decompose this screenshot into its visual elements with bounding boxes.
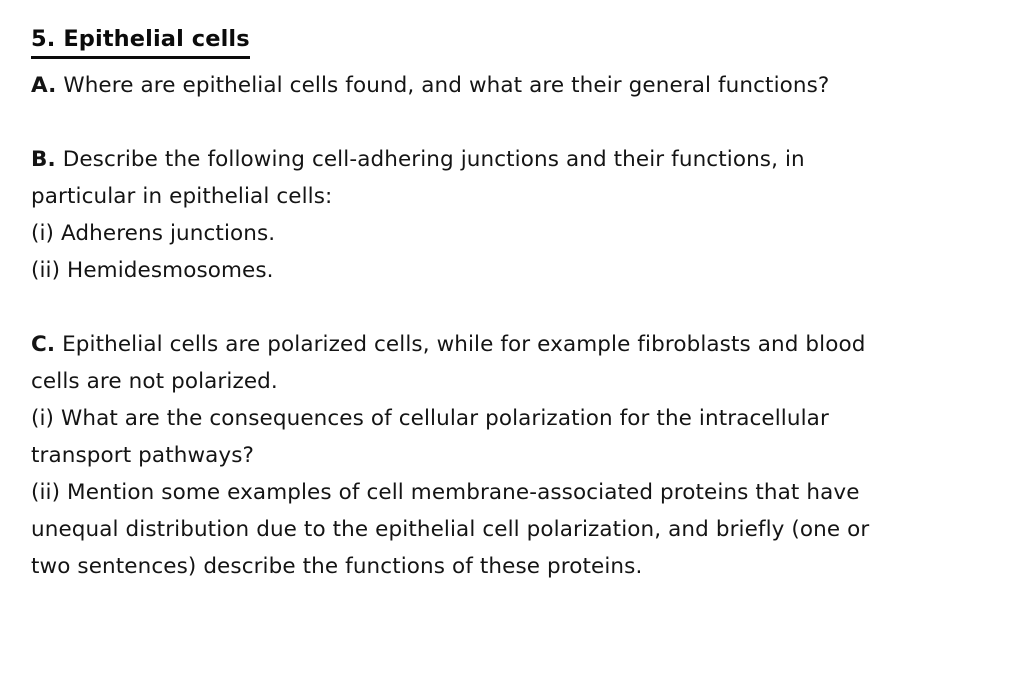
document-body: A. Where are epithelial cells found, and… — [31, 67, 984, 585]
question-c-subitem-ii-line-2: unequal distribution due to the epitheli… — [31, 511, 984, 548]
heading-row: 5. Epithelial cells — [31, 22, 984, 61]
paragraph-spacer-1 — [31, 104, 984, 141]
question-a-label: A. — [31, 73, 56, 98]
question-a-text-1: Where are epithelial cells found, and wh… — [63, 73, 829, 98]
question-c-subitem-i-line-1: (i) What are the consequences of cellula… — [31, 400, 984, 437]
document-page: 5. Epithelial cells A. Where are epithel… — [0, 0, 1024, 685]
question-c-label: C. — [31, 332, 55, 357]
question-c-subitem-ii-line-3: two sentences) describe the functions of… — [31, 548, 984, 585]
question-b-line-2: particular in epithelial cells: — [31, 178, 984, 215]
question-c-line-1: C. Epithelial cells are polarized cells,… — [31, 326, 984, 363]
question-a-line-1: A. Where are epithelial cells found, and… — [31, 67, 984, 104]
question-c-subitem-ii-line-1: (ii) Mention some examples of cell membr… — [31, 474, 984, 511]
page-title: 5. Epithelial cells — [31, 22, 250, 59]
question-block-b: B. Describe the following cell-adhering … — [31, 141, 984, 289]
question-block-c: C. Epithelial cells are polarized cells,… — [31, 326, 984, 585]
question-c-subitem-i-line-2: transport pathways? — [31, 437, 984, 474]
paragraph-spacer-2 — [31, 289, 984, 326]
question-c-line-2: cells are not polarized. — [31, 363, 984, 400]
question-b-text-1: Describe the following cell-adhering jun… — [63, 147, 805, 172]
question-b-line-1: B. Describe the following cell-adhering … — [31, 141, 984, 178]
question-block-a: A. Where are epithelial cells found, and… — [31, 67, 984, 104]
question-b-label: B. — [31, 147, 56, 172]
question-c-text-1: Epithelial cells are polarized cells, wh… — [62, 332, 865, 357]
question-b-subitem-ii: (ii) Hemidesmosomes. — [31, 252, 984, 289]
question-b-subitem-i: (i) Adherens junctions. — [31, 215, 984, 252]
